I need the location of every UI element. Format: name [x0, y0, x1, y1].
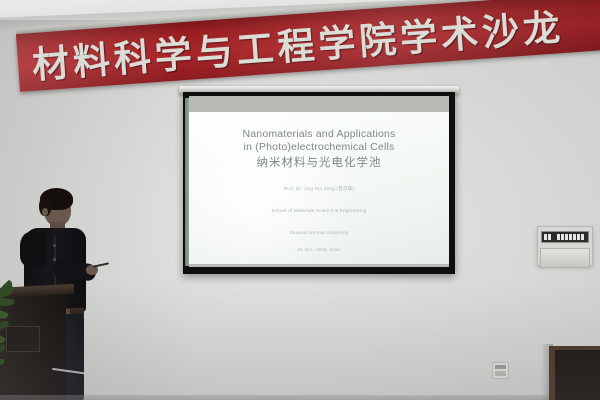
shirt-button [53, 244, 56, 247]
speaker-shoulder [20, 232, 46, 266]
slide-affiliation-1: School of Materials Science & Engineerin… [271, 207, 366, 214]
slide-date-location: 21 Oct., 2019, Xi'an [298, 247, 340, 252]
lecture-hall-photo: 材料科学与工程学院学术沙龙 Nanomaterials and Applicat… [0, 0, 600, 400]
slide-title-line-2: in (Photo)electrochemical Cells [244, 141, 395, 154]
slide-author: Prof. Dr. Jing Hui Zeng (曾京辉) [284, 185, 354, 192]
breaker-switch-row [541, 231, 589, 243]
slide-title-line-1: Nanomaterials and Applications [242, 128, 395, 141]
speaker-ear [42, 208, 48, 216]
wall-shading-bottom [0, 280, 600, 400]
projected-slide: Nanomaterials and Applications in (Photo… [189, 112, 449, 264]
screen-blank-top [189, 96, 449, 112]
panel-cover [540, 248, 590, 268]
projection-screen: Nanomaterials and Applications in (Photo… [183, 92, 455, 274]
laser-pointer-icon [93, 262, 109, 267]
slide-title-chinese: 纳米材料与光电化学池 [257, 155, 382, 170]
slide-affiliation-2: Shaanxi Normal University [289, 229, 348, 236]
